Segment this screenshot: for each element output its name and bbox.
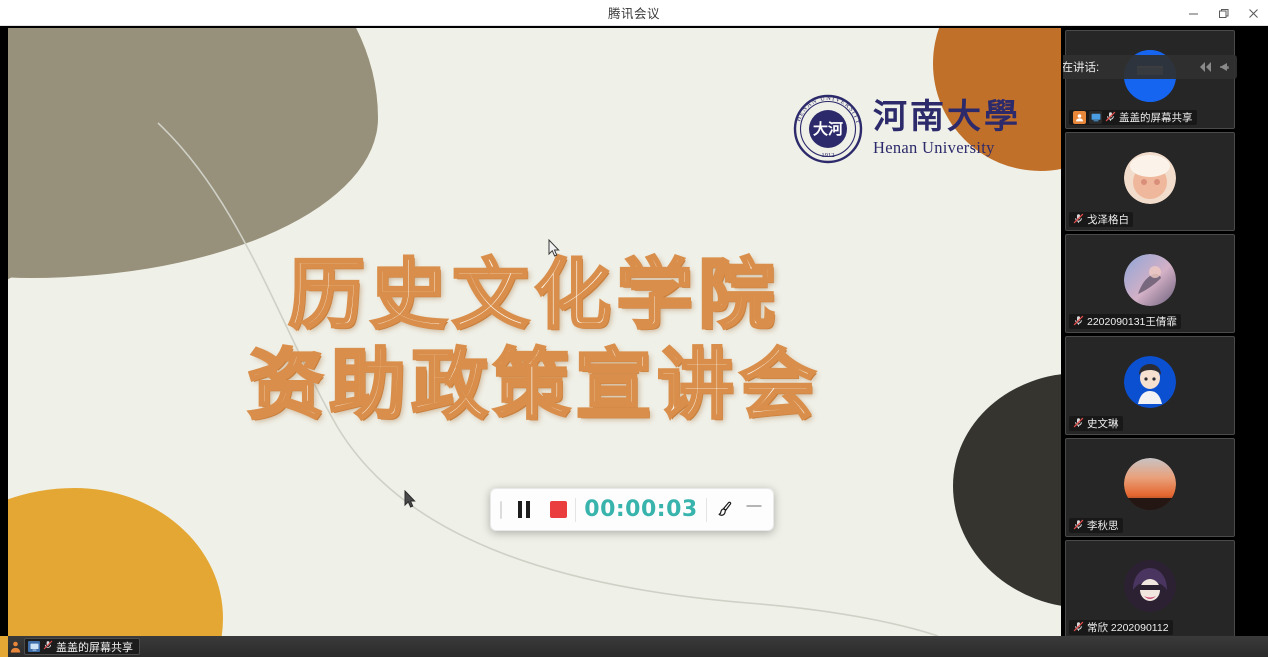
mic-muted-icon <box>1073 213 1084 227</box>
collapse-double-arrow-icon <box>1196 60 1213 74</box>
screen-share-icon <box>1089 111 1102 124</box>
screen-share-icon <box>28 641 40 652</box>
university-name-cn: 河南大學 <box>873 100 1021 136</box>
slide-headline: 历史文化学院 资助政策宣讲会 <box>8 250 1061 429</box>
left-black-edge <box>0 28 8 636</box>
participant-name: 史文琳 <box>1087 416 1119 431</box>
pause-recording-button[interactable] <box>507 493 541 527</box>
minimize-button[interactable] <box>1178 0 1208 26</box>
avatar <box>1124 152 1176 204</box>
mic-muted-icon <box>1073 621 1084 635</box>
host-icon <box>1073 111 1086 124</box>
now-speaking-bar: 正在讲话: <box>1063 55 1237 79</box>
mic-muted-icon <box>43 640 53 653</box>
mouse-cursor-secondary <box>404 490 416 509</box>
window-titlebar: 腾讯会议 <box>0 0 1268 26</box>
participant-name: 2202090131王倩霏 <box>1087 314 1177 329</box>
taskbar-user-icon[interactable] <box>8 641 22 653</box>
participant-name: 李秋思 <box>1087 518 1119 533</box>
participant-tile[interactable]: 戈泽格白 <box>1065 132 1235 231</box>
shared-screen-stage[interactable]: 大河 HENAN UNIVERSITY 1912 河南大學 Henan Univ… <box>8 28 1061 636</box>
toolbar-drag-handle[interactable] <box>495 497 507 523</box>
presentation-slide: 大河 HENAN UNIVERSITY 1912 河南大學 Henan Univ… <box>8 28 1061 636</box>
headline-line-2: 资助政策宣讲会 <box>8 340 1061 430</box>
mouse-cursor-primary <box>548 239 560 258</box>
participant-namebar: 2202090131王倩霏 <box>1069 314 1181 329</box>
close-button[interactable] <box>1238 0 1268 26</box>
recording-timer: 00:00:03 <box>576 497 706 522</box>
pause-icon <box>518 501 530 518</box>
taskbar-empty-area <box>140 636 1268 657</box>
headline-line-1: 历史文化学院 <box>8 250 1061 340</box>
window-title: 腾讯会议 <box>608 3 660 22</box>
participant-name: 常欣 2202090112 <box>1087 620 1169 635</box>
app-root: 腾讯会议 <box>0 0 1268 657</box>
taskbar-item-screen-share[interactable]: 盖盖的屏幕共享 <box>24 638 140 655</box>
mic-muted-icon <box>1073 519 1084 533</box>
stop-icon <box>550 501 567 518</box>
henan-university-logo: 大河 HENAN UNIVERSITY 1912 河南大學 Henan Univ… <box>793 94 1021 164</box>
participant-name: 盖盖的屏幕共享 <box>1119 110 1193 125</box>
participant-namebar: 盖盖的屏幕共享 <box>1069 110 1197 125</box>
brush-icon <box>715 500 734 519</box>
university-name-block: 河南大學 Henan University <box>873 100 1021 158</box>
right-black-edge <box>1237 28 1268 636</box>
university-name-en: Henan University <box>873 138 1021 158</box>
now-speaking-label: 正在讲话: <box>1063 59 1099 75</box>
participant-namebar: 李秋思 <box>1069 518 1123 533</box>
annotate-brush-button[interactable] <box>707 493 741 527</box>
collapse-arrow-icon <box>1215 60 1231 74</box>
avatar <box>1124 560 1176 612</box>
minimize-toolbar-button[interactable]: — <box>741 497 767 522</box>
maximize-button[interactable] <box>1208 0 1238 26</box>
svg-text:1912: 1912 <box>821 152 834 159</box>
participant-rail: 盖盖的屏幕共享 <box>1063 28 1237 636</box>
taskbar-accent-strip <box>0 636 8 657</box>
participant-name: 戈泽格白 <box>1087 212 1129 227</box>
rail-collapse-controls[interactable] <box>1196 60 1231 74</box>
participant-namebar: 史文琳 <box>1069 416 1123 431</box>
participant-namebar: 戈泽格白 <box>1069 212 1133 227</box>
mic-muted-icon <box>1073 417 1084 431</box>
stop-recording-button[interactable] <box>541 493 575 527</box>
recording-toolbar[interactable]: 00:00:03 — <box>490 488 774 531</box>
window-controls <box>1178 0 1268 26</box>
svg-text:大河: 大河 <box>813 120 843 138</box>
mic-muted-icon <box>1073 315 1084 329</box>
taskbar-item-label: 盖盖的屏幕共享 <box>56 639 133 655</box>
participant-tile[interactable]: 2202090131王倩霏 <box>1065 234 1235 333</box>
university-seal-icon: 大河 HENAN UNIVERSITY 1912 <box>793 94 863 164</box>
participant-namebar: 常欣 2202090112 <box>1069 620 1173 635</box>
participant-tile[interactable]: 史文琳 <box>1065 336 1235 435</box>
avatar <box>1124 254 1176 306</box>
windows-taskbar: 盖盖的屏幕共享 <box>0 636 1268 657</box>
avatar <box>1124 458 1176 510</box>
participant-tile[interactable]: 常欣 2202090112 <box>1065 540 1235 636</box>
participant-tile[interactable]: 盖盖的屏幕共享 <box>1065 30 1235 129</box>
avatar <box>1124 356 1176 408</box>
participant-tile[interactable]: 李秋思 <box>1065 438 1235 537</box>
mic-muted-icon <box>1105 111 1116 125</box>
